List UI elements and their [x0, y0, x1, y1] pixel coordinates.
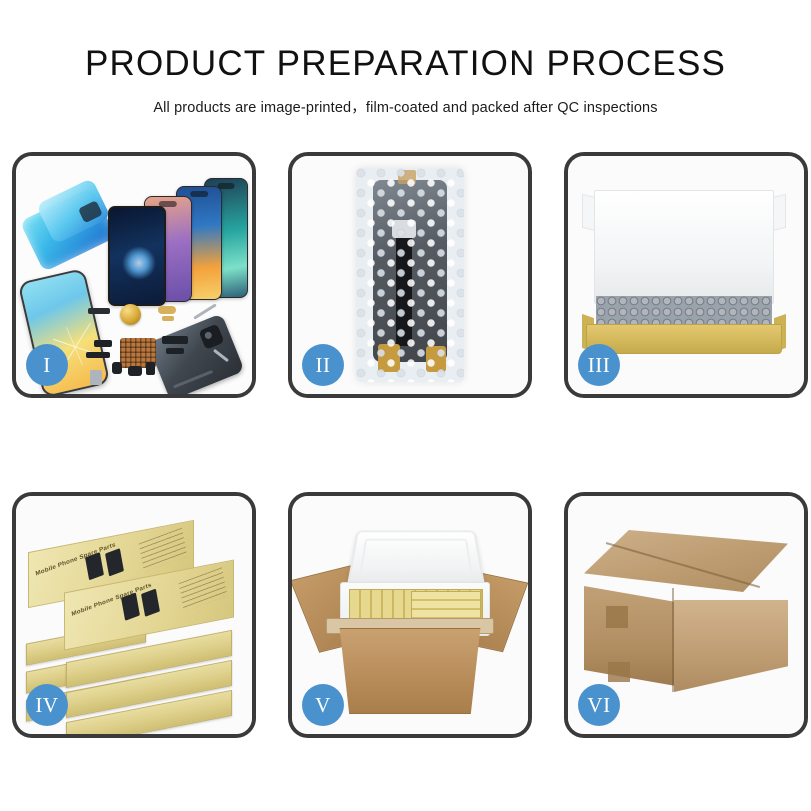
- carton-top-face: [584, 530, 788, 592]
- step-panel-6[interactable]: VI: [564, 492, 808, 738]
- part-camera-icon: [128, 366, 142, 376]
- header: PRODUCT PREPARATION PROCESS All products…: [0, 0, 811, 117]
- box-label-text-1: Mobile Phone Spare Parts: [35, 541, 116, 577]
- open-shipping-carton-icon: [306, 518, 512, 718]
- bubble-wrapped-screen-icon: [356, 168, 464, 382]
- part-gold-connector-icon: [158, 306, 176, 314]
- step-badge-2: II: [302, 344, 344, 386]
- step-panel-2[interactable]: II: [288, 152, 532, 398]
- part-flex-b-icon: [86, 352, 110, 358]
- part-flex-c-icon: [162, 336, 188, 344]
- step-panel-3[interactable]: III: [564, 152, 808, 398]
- step-badge-6: VI: [578, 684, 620, 726]
- step-badge-4: IV: [26, 684, 68, 726]
- bubble-wrap-texture: [356, 168, 464, 382]
- phone-lineup-icon: [100, 176, 248, 306]
- carton-body: [330, 628, 490, 714]
- step-panel-1[interactable]: I: [12, 152, 256, 398]
- product-preparation-infographic: PRODUCT PREPARATION PROCESS All products…: [0, 0, 811, 811]
- step-panel-4[interactable]: Mobile Phone Spare Parts Mobile Phone Sp…: [12, 492, 256, 738]
- vibration-motor-icon: [120, 304, 141, 325]
- part-flex-a-icon: [94, 340, 112, 347]
- step-badge-3: III: [578, 344, 620, 386]
- carton-right-face: [674, 600, 788, 692]
- sealed-carton-icon: [584, 530, 788, 698]
- carton-tape-upper: [606, 606, 628, 628]
- phone-back-housing-icon: [147, 313, 244, 398]
- part-gold-clip-icon: [162, 316, 174, 321]
- carton-tape-lower: [608, 662, 630, 682]
- part-flex-d-icon: [166, 348, 184, 354]
- part-sensor-icon: [146, 362, 155, 375]
- step-badge-1: I: [26, 344, 68, 386]
- page-subtitle: All products are image-printed，film-coat…: [0, 83, 811, 117]
- part-sim-tray-icon: [90, 370, 102, 385]
- part-button-icon: [112, 362, 122, 374]
- page-title: PRODUCT PREPARATION PROCESS: [0, 0, 811, 83]
- carton-left-face: [584, 586, 676, 686]
- open-kraft-box-icon: [582, 190, 786, 362]
- process-steps-grid: I II: [12, 152, 800, 738]
- step-panel-5[interactable]: V: [288, 492, 532, 738]
- part-speaker-icon: [88, 308, 110, 314]
- step-badge-5: V: [302, 684, 344, 726]
